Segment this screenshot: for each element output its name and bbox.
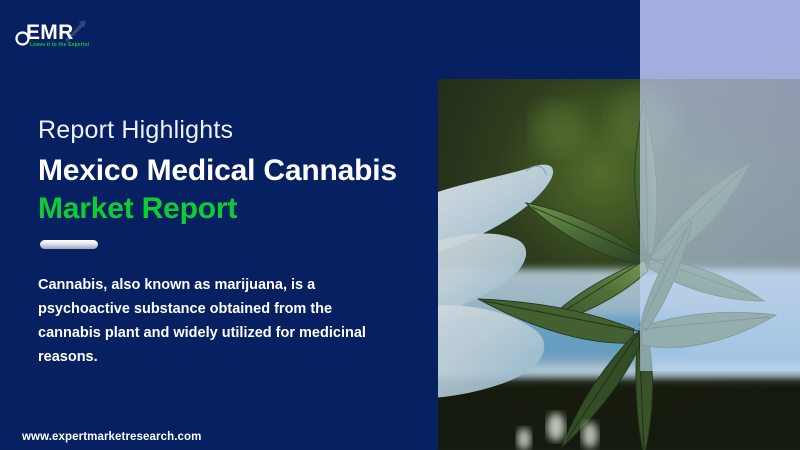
emr-logo[interactable]: EMR Leave it to the Experts! <box>14 12 100 48</box>
glass-overlay-top <box>640 0 800 79</box>
logo-tagline: Leave it to the Experts! <box>30 42 90 48</box>
title-divider <box>40 240 98 249</box>
cannabis-photo <box>438 79 800 450</box>
page-title-line-2: Market Report <box>38 190 458 228</box>
report-highlight-slide: EMR Leave it to the Experts! <box>0 0 800 450</box>
page-title-line-1: Mexico Medical Cannabis <box>38 152 458 190</box>
cannabis-photo-illustration <box>438 79 800 450</box>
eyebrow-label: Report Highlights <box>38 116 233 145</box>
svg-text:EMR: EMR <box>26 21 74 44</box>
page-title: Mexico Medical Cannabis Market Report <box>38 152 458 228</box>
emr-logo-mark: EMR Leave it to the Experts! <box>14 12 100 48</box>
summary-text: Cannabis, also known as marijuana, is a … <box>38 273 383 369</box>
footer-website-url[interactable]: www.expertmarketresearch.com <box>22 431 201 443</box>
